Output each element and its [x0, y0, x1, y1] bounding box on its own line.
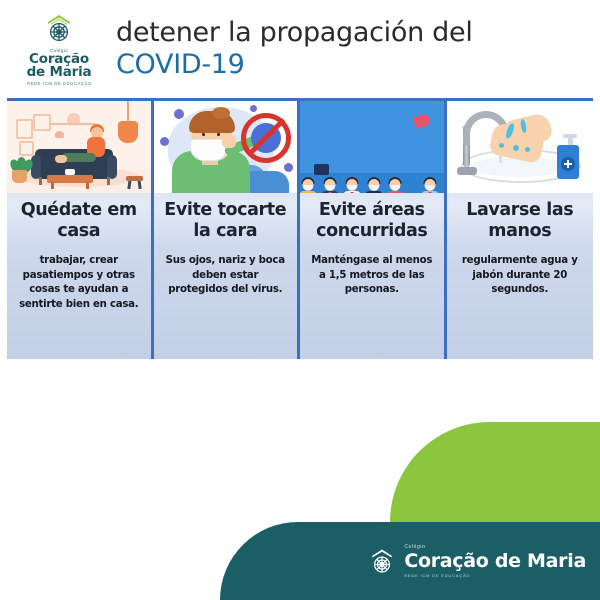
- card-avoid-crowds: Evite áreas concurridas Manténgase al me…: [300, 101, 447, 359]
- prevention-cards-row: Quédate em casa trabajar, crear pasatiem…: [7, 98, 593, 359]
- header-title-block: detener la propagación del COVID-19: [116, 16, 600, 80]
- card-body: regularmente agua y jabón durante 20 seg…: [447, 242, 594, 298]
- card-title: Evite tocarte la cara: [154, 193, 298, 242]
- page-title-line1: detener la propagación del: [116, 16, 600, 49]
- card-title: Lavarse las manos: [447, 193, 594, 242]
- card-body: trabajar, crear pasatiempos y otras cosa…: [7, 242, 151, 312]
- card-title: Quédate em casa: [7, 193, 151, 242]
- stay-home-illustration: [7, 101, 151, 193]
- footer-brand-tagline: REDE ICM DE EDUCAÇÃO: [404, 573, 586, 578]
- footer-brand-text: Colégio Coração de Maria REDE ICM DE EDU…: [404, 544, 586, 578]
- card-body: Sus ojos, nariz y boca deben estar prote…: [154, 242, 298, 298]
- rosette-mandala-icon: [42, 11, 76, 45]
- footer-brand-name: Coração de Maria: [404, 551, 586, 571]
- rosette-mandala-icon: [367, 546, 397, 576]
- page-header: Colégio Coração de Maria REDE ICM DE EDU…: [0, 0, 600, 96]
- card-title: Evite áreas concurridas: [300, 193, 444, 242]
- wash-hands-illustration: [447, 101, 594, 193]
- card-avoid-touching-face: Evite tocarte la cara Sus ojos, nariz y …: [154, 101, 301, 359]
- avoid-touching-face-illustration: [154, 101, 298, 193]
- page-title-line2: COVID-19: [116, 49, 600, 80]
- card-wash-hands: Lavarse las manos regularmente agua y ja…: [447, 101, 594, 359]
- brand-name-line2: de Maria: [27, 66, 92, 79]
- brand-tagline: REDE ICM DE EDUCAÇÃO: [27, 81, 92, 86]
- card-stay-home: Quédate em casa trabajar, crear pasatiem…: [7, 101, 154, 359]
- footer-banner: Colégio Coração de Maria REDE ICM DE EDU…: [220, 522, 600, 600]
- avoid-crowds-illustration: [300, 101, 444, 193]
- brand-logo-top: Colégio Coração de Maria REDE ICM DE EDU…: [14, 11, 104, 86]
- footer-brand-logo: Colégio Coração de Maria REDE ICM DE EDU…: [367, 544, 586, 578]
- card-body: Manténgase al menos a 1,5 metros de las …: [300, 242, 444, 298]
